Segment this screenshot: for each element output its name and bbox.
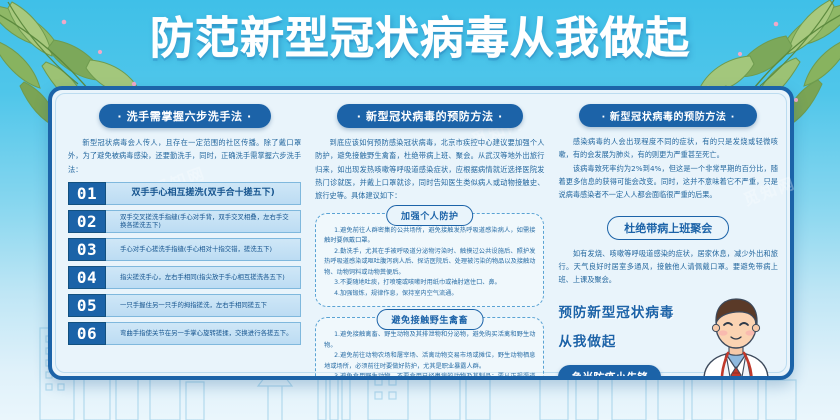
step-number: 05 (68, 294, 106, 317)
step-text: 双手交叉搓洗手指缝(手心对手背，双手交叉相叠，左右手交换各搓洗五下) (106, 210, 301, 233)
step-text: 弯曲手指使关节在另一手掌心旋转搓揉，交换进行各搓五下。 (106, 322, 301, 345)
card-paragraph: 2.勤洗手，尤其在手被呼吸道分泌物污染时、触摸过公共设施后、照护发热呼吸道感染或… (324, 247, 535, 279)
handwash-steps-list: 01 双手手心相互搓洗(双手合十搓五下) 02 双手交叉搓洗手指缝(手心对手背，… (68, 182, 301, 345)
step-text: 指尖搓洗手心，左右手相同(指尖放于手心相互搓洗各五下) (106, 266, 301, 289)
left-column: · 洗手需掌握六步洗手法 · 新型冠状病毒会人传人，且存在一定范围的社区传播。除… (58, 98, 309, 370)
step-text: 双手手心相互搓洗(双手合十搓五下) (106, 182, 301, 205)
slogan-button[interactable]: 争当防疫小先锋 (558, 365, 661, 381)
card-paragraph: 1.避免前往人群密集的公共场所，避免接触发热呼吸道感染病人，如需接触时要佩戴口罩… (324, 226, 535, 247)
card-avoid-wild-animals: 避免接触野生禽畜 1.避免接触禽畜、野生动物及其排泄物和分泌物，避免购买活禽和野… (315, 317, 544, 380)
list-item: 01 双手手心相互搓洗(双手合十搓五下) (68, 182, 301, 205)
page-title: 防范新型冠状病毒从我做起 (0, 16, 840, 62)
card-personal-protection: 加强个人防护 1.避免前往人群密集的公共场所，避免接触发热呼吸道感染病人，如需接… (315, 213, 544, 308)
content-board: · 洗手需掌握六步洗手法 · 新型冠状病毒会人传人，且存在一定范围的社区传播。除… (48, 86, 794, 380)
left-section-heading: · 洗手需掌握六步洗手法 · (99, 104, 271, 128)
poster-root: 防范新型冠状病毒从我做起 · 洗手需掌握六步洗手法 · 新型冠状病毒会人传人，且… (0, 0, 840, 420)
list-item: 02 双手交叉搓洗手指缝(手心对手背，双手交叉相叠，左右手交换各搓洗五下) (68, 210, 301, 233)
card-title: 加强个人防护 (386, 205, 474, 226)
card-title: 避免接触野生禽畜 (376, 309, 483, 330)
list-item: 05 一只手握住另一只手的拇指搓洗，左右手相同搓五下 (68, 294, 301, 317)
right-paragraph: 感染病毒的人会出现程度不同的症状，有的只是发烧或轻微咳嗽，有的会发展为肺炎，有的… (558, 135, 778, 162)
title-block: 防范新型冠状病毒从我做起 (0, 16, 840, 62)
right-sub-heading: 杜绝带病上班聚会 (607, 216, 729, 240)
slogan-zone: 预防新型冠状病毒 从我做起 争当防疫小先锋 (558, 301, 778, 381)
right-sub-paragraph: 如有发烧、咳嗽等呼吸道感染的症状，居家休息，减少外出和旅行。天气良好时居室多通风… (558, 247, 778, 287)
card-paragraph: 1.避免接触禽畜、野生动物及其排泄物和分泌物，避免购买活禽和野生动物。 (324, 330, 535, 351)
list-item: 06 弯曲手指使关节在另一手掌心旋转搓揉，交换进行各搓五下。 (68, 322, 301, 345)
step-number: 01 (68, 182, 106, 205)
middle-section-heading: · 新型冠状病毒的预防方法 · (337, 104, 523, 128)
male-doctor-illustration (674, 293, 792, 381)
middle-column: · 新型冠状病毒的预防方法 · 到底应该如何预防感染冠状病毒，北京市疾控中心建议… (309, 98, 550, 370)
list-item: 04 指尖搓洗手心，左右手相同(指尖放于手心相互搓洗各五下) (68, 266, 301, 289)
step-number: 06 (68, 322, 106, 345)
step-text: 一只手握住另一只手的拇指搓洗，左右手相同搓五下 (106, 294, 301, 317)
middle-intro-paragraph: 到底应该如何预防感染冠状病毒，北京市疾控中心建议要加强个人防护，避免接触野生禽畜… (315, 136, 544, 203)
card-paragraph: 3.不要随地吐痰，打喷嚏或咳嗽时用纸巾或袖肘遮住口、鼻。 (324, 278, 535, 289)
card-paragraph: 2.避免前往动物农场和屠宰场、活禽动物交易市场或摊位，野生动物栖息地或场所，必须… (324, 351, 535, 372)
list-item: 03 手心对手心搓洗手指缝(手心相对十指交错，搓洗五下) (68, 238, 301, 261)
step-number: 03 (68, 238, 106, 261)
step-text: 手心对手心搓洗手指缝(手心相对十指交错，搓洗五下) (106, 238, 301, 261)
step-number: 02 (68, 210, 106, 233)
left-intro-paragraph: 新型冠状病毒会人传人，且存在一定范围的社区传播。除了戴口罩外，为了避免被病毒感染… (68, 136, 301, 176)
step-number: 04 (68, 266, 106, 289)
card-paragraph: 4.加强锻炼，规律作息，保持室内空气流通。 (324, 289, 535, 300)
card-paragraph: 3.避免食用野生动物，不要食用已经患病的动物及其制品；要从正规渠道购买冰鲜禽肉，… (324, 372, 535, 380)
right-column: · 新型冠状病毒的预防方法 · 感染病毒的人会出现程度不同的症状，有的只是发烧或… (550, 98, 784, 370)
right-section-heading: · 新型冠状病毒的预防方法 · (579, 104, 757, 127)
right-paragraph: 该病毒致死率约为2%到4%，但这是一个非常早期的百分比，随着更多信息的获得可能会… (558, 162, 778, 202)
